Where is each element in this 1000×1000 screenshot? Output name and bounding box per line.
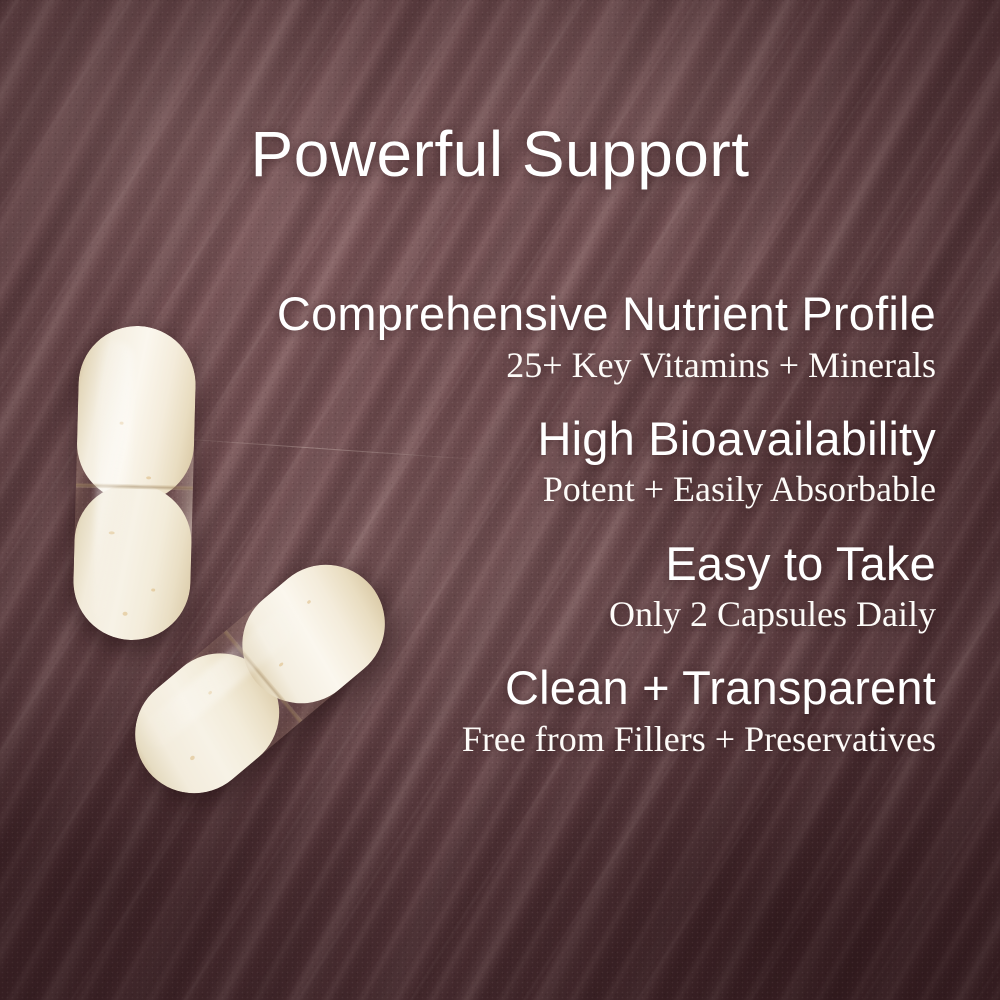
capsule-upright-body [72, 482, 193, 641]
feature-title: High Bioavailability [176, 413, 936, 466]
feature-item-easy-to-take: Easy to Take Only 2 Capsules Daily [176, 538, 936, 637]
page-title: Powerful Support [0, 122, 1000, 186]
feature-list: Comprehensive Nutrient Profile 25+ Key V… [176, 288, 936, 761]
feature-subtitle: 25+ Key Vitamins + Minerals [176, 344, 936, 387]
feature-title: Clean + Transparent [176, 662, 936, 715]
feature-title: Comprehensive Nutrient Profile [176, 288, 936, 341]
feature-item-nutrient-profile: Comprehensive Nutrient Profile 25+ Key V… [176, 288, 936, 387]
feature-subtitle: Potent + Easily Absorbable [176, 468, 936, 511]
capsule-speck [151, 588, 155, 591]
product-feature-graphic: Powerful Support Comprehensive Nutrient … [0, 0, 1000, 1000]
feature-title: Easy to Take [176, 538, 936, 591]
capsule-speck [146, 476, 151, 479]
feature-subtitle: Only 2 Capsules Daily [176, 593, 936, 636]
feature-item-bioavailability: High Bioavailability Potent + Easily Abs… [176, 413, 936, 512]
feature-subtitle: Free from Fillers + Preservatives [176, 718, 936, 761]
feature-item-clean-transparent: Clean + Transparent Free from Fillers + … [176, 662, 936, 761]
